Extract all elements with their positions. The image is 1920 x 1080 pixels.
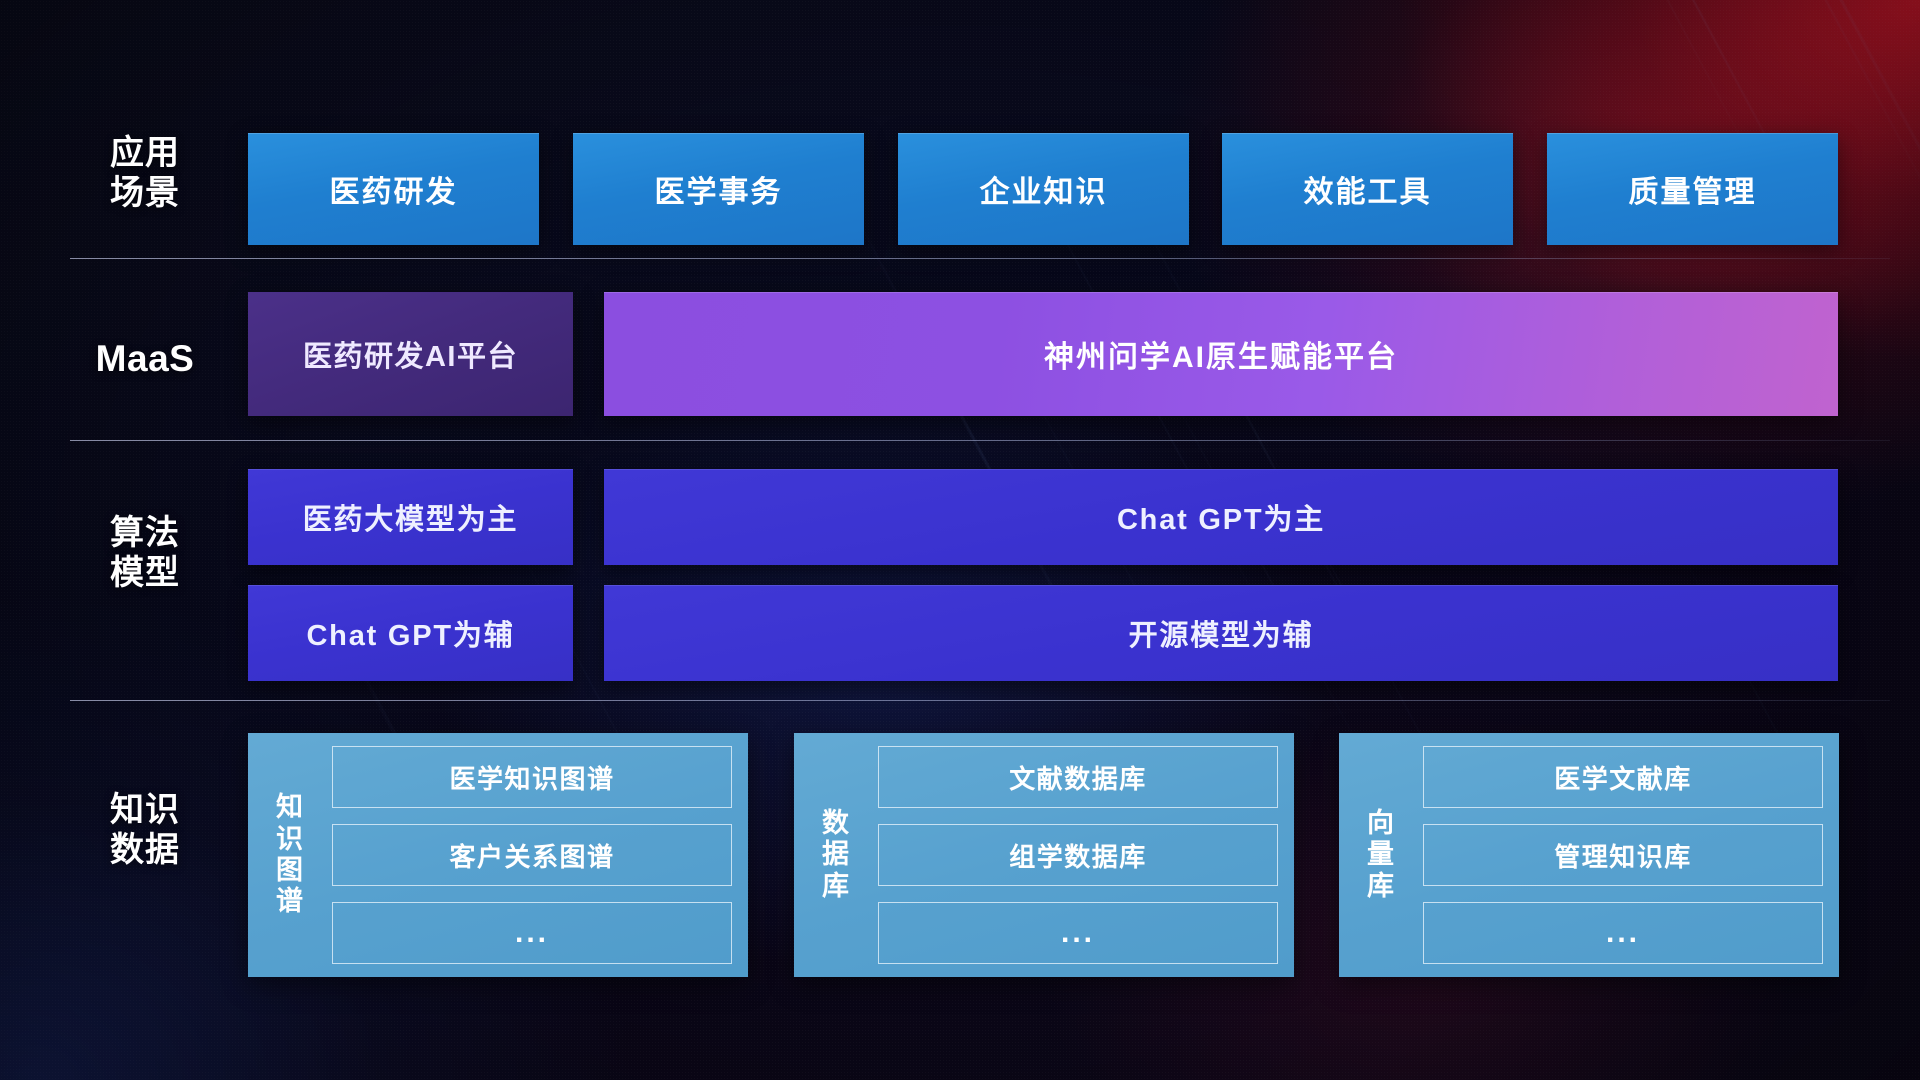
app-scenario-box-3[interactable]: 企业知识	[898, 133, 1189, 245]
vertical-label-char: 图	[276, 855, 304, 886]
app-scenario-box-2[interactable]: 医学事务	[573, 133, 864, 245]
diagram-content: 应用 场景 医药研发 医学事务 企业知识 效能工具 质量管理 MaaS 医药研发…	[0, 0, 1920, 1080]
row-label-line: 应用	[70, 133, 220, 173]
slide-canvas: 应用 场景 医药研发 医学事务 企业知识 效能工具 质量管理 MaaS 医药研发…	[0, 0, 1920, 1080]
vertical-label-char: 向	[1367, 808, 1395, 839]
algo-box-right-secondary[interactable]: 开源模型为辅	[604, 585, 1838, 681]
row-label-line: 算法	[70, 513, 220, 553]
knowledge-card-items: 医学知识图谱 客户关系图谱 ...	[318, 746, 732, 964]
row-label-line: 数据	[70, 830, 220, 870]
knowledge-item-more[interactable]: ...	[1423, 902, 1823, 964]
row-label-line: 知识	[70, 790, 220, 830]
vertical-label-char: 谱	[276, 886, 304, 917]
row-divider-3	[70, 700, 1890, 701]
vertical-label-char: 库	[822, 871, 850, 902]
algo-box-left-secondary[interactable]: Chat GPT为辅	[248, 585, 573, 681]
row-label-line: MaaS	[70, 337, 220, 381]
row-label-maas: MaaS	[70, 337, 220, 381]
knowledge-card-vector[interactable]: 向 量 库 医学文献库 管理知识库 ...	[1339, 733, 1839, 977]
app-scenario-box-5[interactable]: 质量管理	[1547, 133, 1838, 245]
row-label-line: 模型	[70, 553, 220, 593]
knowledge-card-database[interactable]: 数 据 库 文献数据库 组学数据库 ...	[794, 733, 1294, 977]
knowledge-item[interactable]: 客户关系图谱	[332, 824, 732, 886]
app-scenario-box-4[interactable]: 效能工具	[1222, 133, 1513, 245]
vertical-label-char: 量	[1367, 839, 1395, 870]
row-divider-1	[70, 258, 1890, 259]
knowledge-item-more[interactable]: ...	[332, 902, 732, 964]
knowledge-item[interactable]: 医学文献库	[1423, 746, 1823, 808]
knowledge-item[interactable]: 管理知识库	[1423, 824, 1823, 886]
maas-platform-box-right[interactable]: 神州问学AI原生赋能平台	[604, 292, 1838, 416]
row-label-application-scenarios: 应用 场景	[70, 133, 220, 213]
knowledge-card-items: 文献数据库 组学数据库 ...	[864, 746, 1278, 964]
knowledge-item[interactable]: 组学数据库	[878, 824, 1278, 886]
knowledge-card-graph[interactable]: 知 识 图 谱 医学知识图谱 客户关系图谱 ...	[248, 733, 748, 977]
knowledge-item[interactable]: 医学知识图谱	[332, 746, 732, 808]
knowledge-card-vertical-label: 向 量 库	[1353, 746, 1409, 964]
row-label-knowledge-data: 知识 数据	[70, 790, 220, 870]
knowledge-item[interactable]: 文献数据库	[878, 746, 1278, 808]
knowledge-card-vertical-label: 知 识 图 谱	[262, 746, 318, 964]
maas-platform-box-left[interactable]: 医药研发AI平台	[248, 292, 573, 416]
knowledge-item-more[interactable]: ...	[878, 902, 1278, 964]
vertical-label-char: 知	[276, 792, 304, 823]
knowledge-card-items: 医学文献库 管理知识库 ...	[1409, 746, 1823, 964]
algo-box-left-primary[interactable]: 医药大模型为主	[248, 469, 573, 565]
app-scenario-box-1[interactable]: 医药研发	[248, 133, 539, 245]
knowledge-card-vertical-label: 数 据 库	[808, 746, 864, 964]
vertical-label-char: 库	[1367, 871, 1395, 902]
vertical-label-char: 据	[822, 839, 850, 870]
vertical-label-char: 识	[276, 824, 304, 855]
vertical-label-char: 数	[822, 808, 850, 839]
algo-box-right-primary[interactable]: Chat GPT为主	[604, 469, 1838, 565]
row-label-algorithm-model: 算法 模型	[70, 513, 220, 593]
row-label-line: 场景	[70, 173, 220, 213]
row-divider-2	[70, 440, 1890, 441]
